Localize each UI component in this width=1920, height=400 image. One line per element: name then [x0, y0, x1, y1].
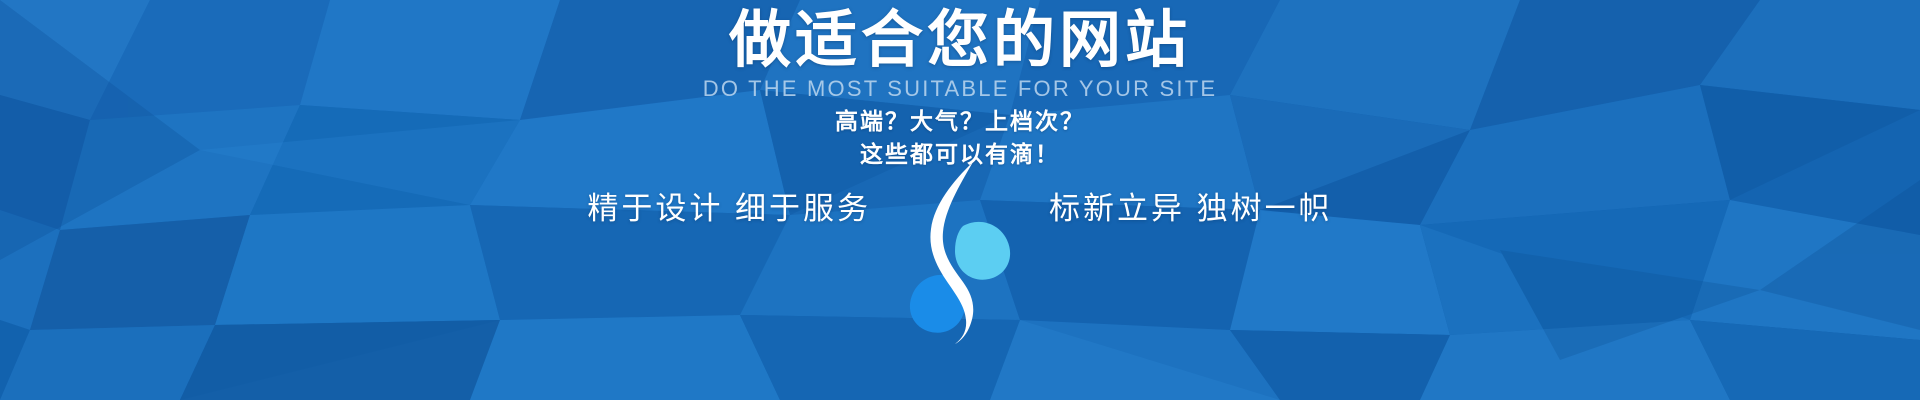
promo-banner: 做适合您的网站 DO THE MOST SUITABLE FOR YOUR SI… — [0, 0, 1920, 400]
slogan-right: 标新立异 独树一帜 — [1015, 193, 1345, 224]
leaf-sprout-logo-icon — [895, 160, 1025, 345]
question-line-1: 高端？大气？上档次？ — [0, 105, 1920, 138]
subtitle-english: DO THE MOST SUITABLE FOR YOUR SITE — [0, 77, 1920, 101]
page-title: 做适合您的网站 — [0, 8, 1920, 75]
headline-block: 做适合您的网站 DO THE MOST SUITABLE FOR YOUR SI… — [0, 8, 1920, 101]
logo-leaf-top — [955, 222, 1010, 280]
slogan-left: 精于设计 细于服务 — [575, 193, 905, 224]
